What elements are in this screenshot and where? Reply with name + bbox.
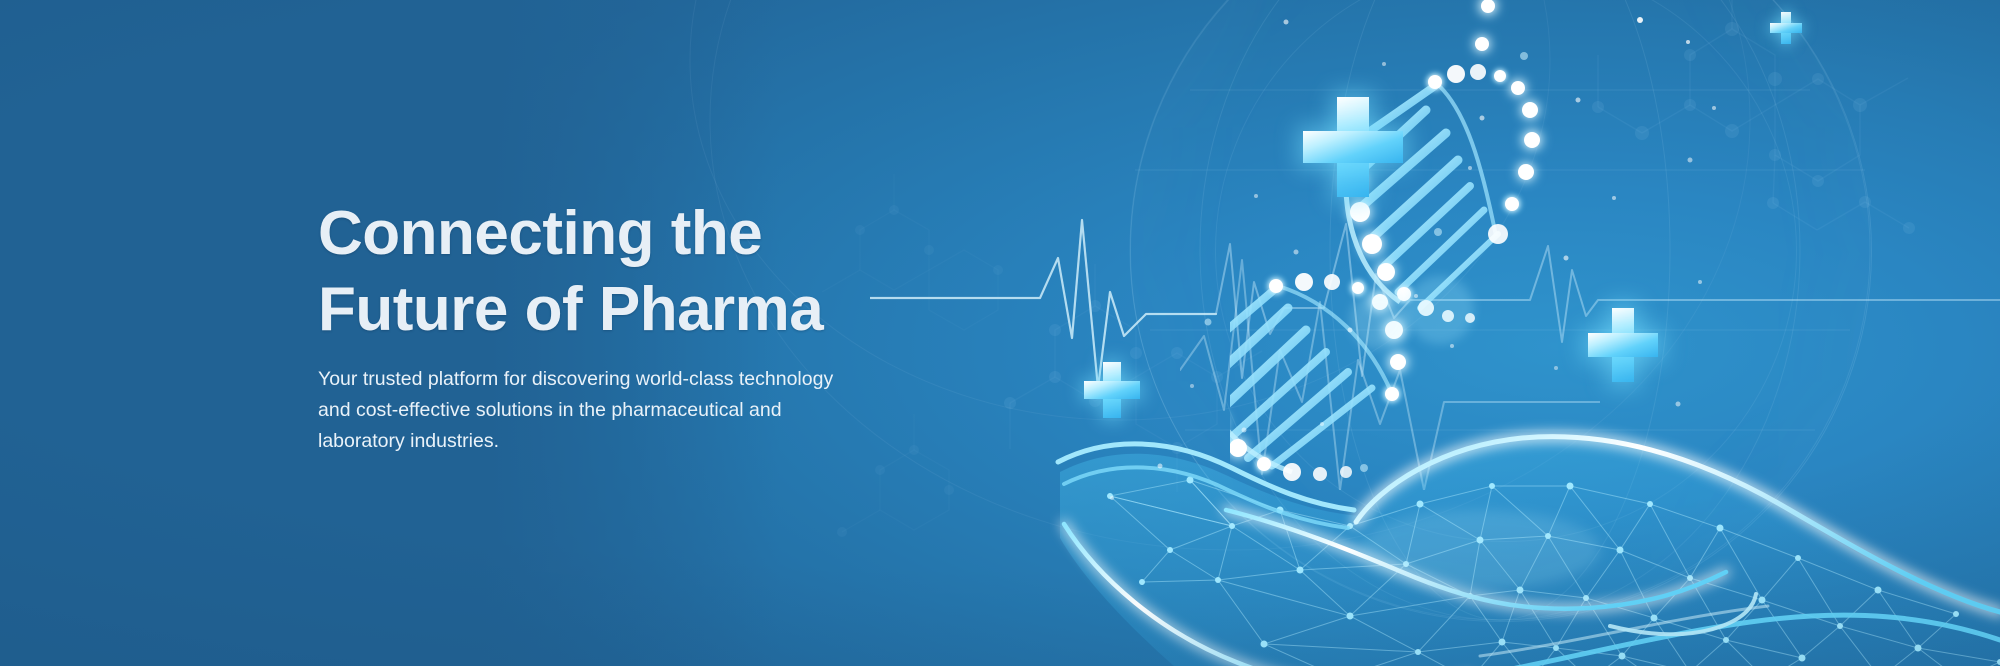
hero-banner: Connecting the Future of Pharma Your tru… xyxy=(0,0,2000,666)
background-vignette xyxy=(0,0,2000,666)
hero-subtitle: Your trusted platform for discovering wo… xyxy=(318,364,878,457)
hero-copy: Connecting the Future of Pharma Your tru… xyxy=(318,196,938,457)
page-title: Connecting the Future of Pharma xyxy=(318,196,938,348)
